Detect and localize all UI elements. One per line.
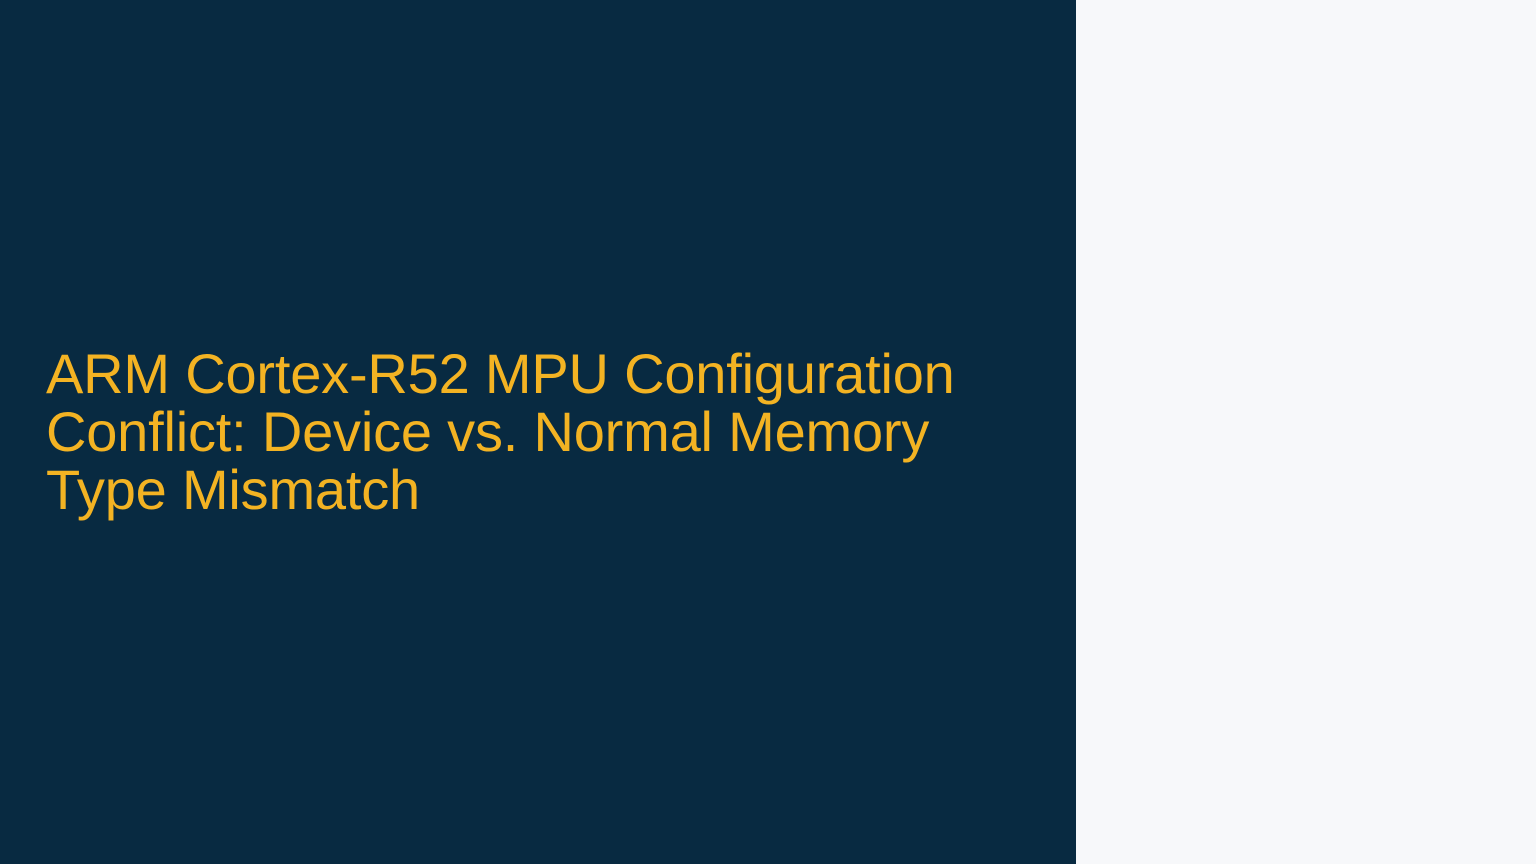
title-panel: ARM Cortex-R52 MPU Configuration Conflic… <box>0 0 1076 864</box>
category-panel: Architectures & Processors <box>1076 0 1536 864</box>
page-title: ARM Cortex-R52 MPU Configuration Conflic… <box>46 345 1046 519</box>
title-block: ARM Cortex-R52 MPU Configuration Conflic… <box>46 345 1046 519</box>
title-slide: ARM Cortex-R52 MPU Configuration Conflic… <box>0 0 1536 864</box>
category-block: Architectures & Processors <box>1076 0 1536 864</box>
